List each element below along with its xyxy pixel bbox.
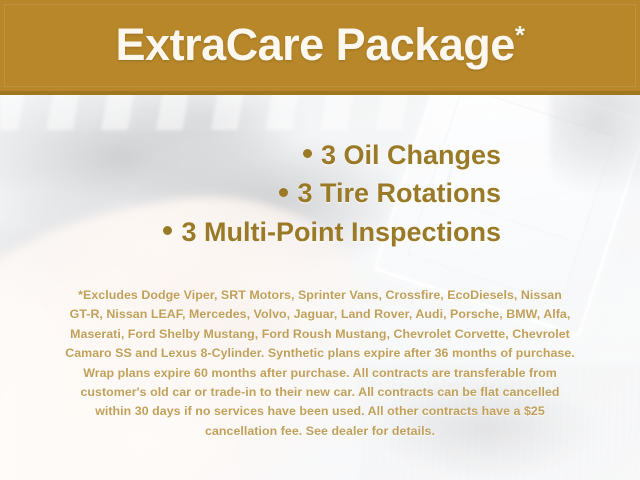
benefit-item-label: 3 Multi-Point Inspections [181,217,501,247]
bullet-dot-icon [303,149,312,158]
title-asterisk: * [515,20,525,50]
page-title: ExtraCare Package* [116,22,525,67]
benefit-item: 3 Oil Changes [0,136,501,174]
benefits-list: 3 Oil Changes 3 Tire Rotations 3 Multi-P… [0,136,640,251]
disclaimer-line: within 30 days if no services have been … [26,402,614,421]
disclaimer-line: cancellation fee. See dealer for details… [26,422,614,441]
disclaimer-line: *Excludes Dodge Viper, SRT Motors, Sprin… [26,286,614,305]
disclaimer-line: Maserati, Ford Shelby Mustang, Ford Rous… [26,325,614,344]
disclaimer-line: GT-R, Nissan LEAF, Mercedes, Volvo, Jagu… [26,305,614,324]
disclaimer-line: Wrap plans expire 60 months after purcha… [26,364,614,383]
disclaimer-text: *Excludes Dodge Viper, SRT Motors, Sprin… [0,286,640,441]
bullet-dot-icon [163,226,172,235]
benefit-item-label: 3 Tire Rotations [297,178,501,208]
benefit-item-label: 3 Oil Changes [321,140,501,170]
disclaimer-line: Camaro SS and Lexus 8-Cylinder. Syntheti… [26,344,614,363]
benefit-item: 3 Multi-Point Inspections [0,213,501,251]
bullet-dot-icon [279,188,288,197]
benefit-item: 3 Tire Rotations [0,174,501,212]
page-title-text: ExtraCare Package [116,19,515,70]
disclaimer-line: customer's old car or trade-in to their … [26,383,614,402]
extracare-package-ad: ExtraCare Package* 3 Oil Changes 3 Tire … [0,0,640,480]
header-banner: ExtraCare Package* [0,0,640,95]
